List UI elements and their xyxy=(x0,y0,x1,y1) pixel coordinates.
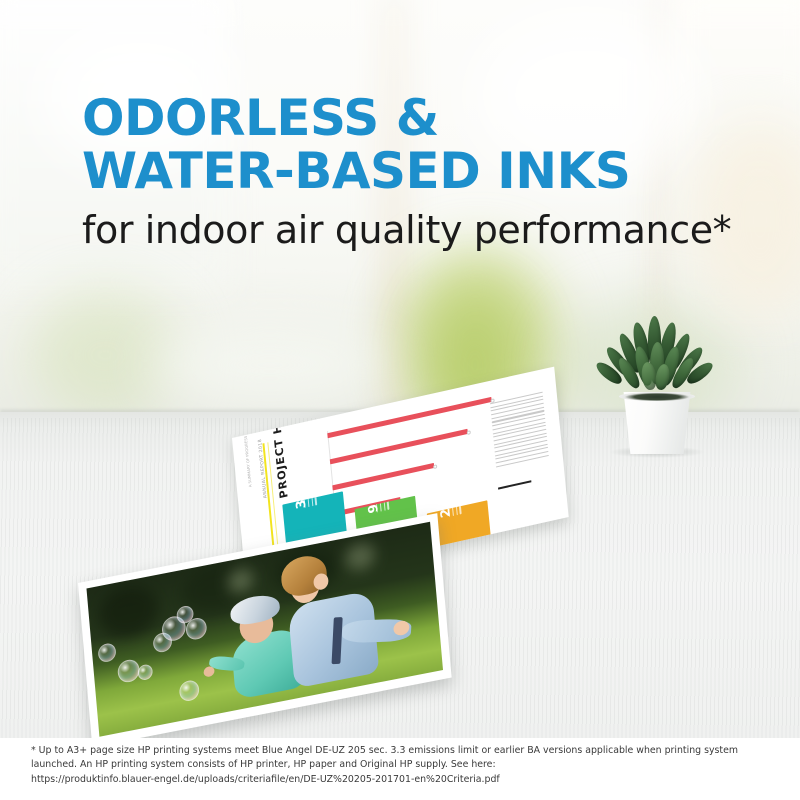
headline-line-2: WATER-BASED INKS xyxy=(82,145,731,198)
stat-body-lines xyxy=(300,491,319,508)
footnote-line-1: * Up to A3+ page size HP printing system… xyxy=(31,744,776,758)
poster-scene: ODORLESS & WATER-BASED INKS for indoor a… xyxy=(0,0,800,800)
background-bokeh-light xyxy=(344,541,376,573)
woman-hand-raised xyxy=(313,572,329,591)
chart-bar xyxy=(330,429,468,465)
soap-bubble xyxy=(137,663,153,681)
pot-rim xyxy=(619,392,695,401)
chart-bar-endpoint xyxy=(433,464,437,469)
footnote: * Up to A3+ page size HP printing system… xyxy=(31,744,776,787)
soap-bubble xyxy=(179,679,200,703)
child-hand xyxy=(203,666,215,678)
potted-plant xyxy=(597,306,717,446)
chart-bar-endpoint xyxy=(467,430,471,435)
footnote-line-2: launched. An HP printing system consists… xyxy=(31,758,776,772)
headline-block: ODORLESS & WATER-BASED INKS for indoor a… xyxy=(82,92,731,252)
headline-line-1: ODORLESS & xyxy=(82,92,731,145)
shelf-blur xyxy=(150,330,390,400)
stat-body-lines xyxy=(373,496,392,513)
plant-pot xyxy=(619,392,695,454)
divider-rule xyxy=(498,480,531,489)
subheadline: for indoor air quality performance* xyxy=(82,208,731,252)
brochure-text-column xyxy=(490,392,549,470)
background-bokeh xyxy=(97,581,160,643)
soap-bubble xyxy=(97,642,116,663)
chart-bar xyxy=(332,463,434,491)
brochure-corner-label: A SUMMARY OF PROGRESS xyxy=(243,435,253,487)
footnote-url: https://produktinfo.blauer-engel.de/uplo… xyxy=(31,773,776,787)
